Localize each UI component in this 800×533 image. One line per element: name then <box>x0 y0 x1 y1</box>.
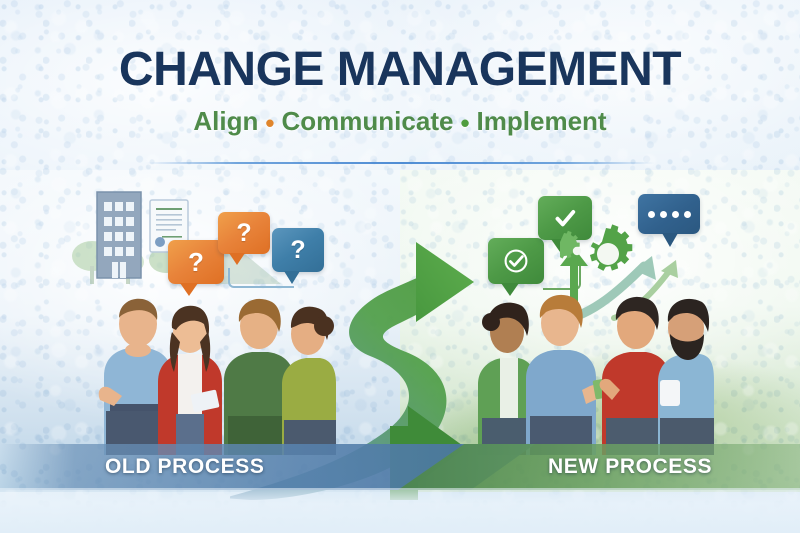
person-red-jacket-woman <box>158 306 222 455</box>
subtitle-word-communicate: Communicate <box>282 106 454 136</box>
poster-header: CHANGE MANAGEMENT Align•Communicate•Impl… <box>0 0 800 136</box>
person-olive-top-woman <box>282 307 336 455</box>
poster-canvas: ? ? ? <box>0 0 800 533</box>
person-bearded-blue-shirt-man <box>658 299 714 455</box>
subtitle-word-implement: Implement <box>477 106 607 136</box>
subtitle-separator-orange: • <box>265 110 274 136</box>
typing-dots-icon <box>648 211 691 218</box>
office-building-icon <box>95 190 143 280</box>
new-process-label: NEW PROCESS <box>548 455 712 479</box>
new-process-band: NEW PROCESS <box>398 444 800 490</box>
page-title: CHANGE MANAGEMENT <box>0 0 800 94</box>
people-group-new <box>474 278 714 455</box>
header-divider <box>145 162 655 164</box>
subtitle-word-align: Align <box>193 106 258 136</box>
bottom-fade <box>0 488 800 533</box>
people-group-old <box>96 280 336 455</box>
page-subtitle: Align•Communicate•Implement <box>0 94 800 136</box>
subtitle-separator-green: • <box>460 110 469 136</box>
question-mark-glyph: ? <box>188 249 204 275</box>
old-process-label: OLD PROCESS <box>105 455 264 479</box>
question-bubble-orange-lower: ? <box>168 240 224 284</box>
